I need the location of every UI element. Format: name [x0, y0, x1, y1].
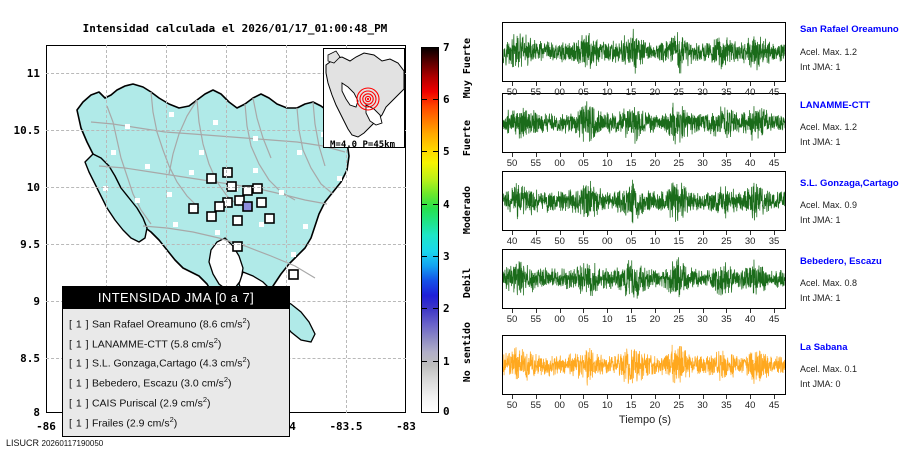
- time-axis-3: 404550550005101520253035: [502, 231, 786, 251]
- legend-bracket: [ 1 ]: [69, 358, 89, 370]
- list-item: [ 1 ] S.L. Gonzaga,Cartago (4.3 cm/s2): [69, 352, 283, 372]
- seismogram-panel-2[interactable]: [502, 93, 786, 153]
- axis-tick: [607, 309, 608, 313]
- axis-tick-label: 30: [738, 236, 762, 247]
- axis-tick: [679, 395, 680, 399]
- legend-station: San Rafael Oreamuno: [92, 319, 196, 331]
- axis-tick-label: 00: [548, 400, 572, 411]
- time-axis-1: 505500051015202530354045: [502, 82, 786, 102]
- axis-tick-label: 50: [500, 314, 524, 325]
- axis-tick: [607, 231, 608, 235]
- axis-tick: [679, 309, 680, 313]
- magnitude-depth-label: M=4.0 P=45km: [330, 140, 395, 150]
- axis-tick: [583, 82, 584, 86]
- axis-tick: [560, 153, 561, 157]
- x-axis-label: Tiempo (s): [560, 414, 730, 426]
- colorbar-tick-5: 5: [443, 145, 450, 158]
- axis-tick: [750, 231, 751, 235]
- axis-tick-label: 20: [691, 236, 715, 247]
- axis-tick-label: 00: [548, 158, 572, 169]
- unit-exponent: 2: [170, 415, 174, 424]
- axis-tick-label: 55: [524, 314, 548, 325]
- axis-tick-label: 20: [643, 87, 667, 98]
- unit-exponent: 2: [243, 355, 247, 364]
- lat-label-8: 8: [0, 406, 40, 419]
- unit-exponent: 2: [214, 336, 218, 345]
- colorbar-category-debil: Debil: [462, 268, 473, 298]
- station-accel-3: Acel. Max. 0.9: [800, 200, 857, 210]
- axis-tick: [536, 153, 537, 157]
- lat-label-8-5: 8.5: [0, 352, 40, 365]
- colorbar-tick-3: 3: [443, 250, 450, 263]
- axis-tick: [655, 309, 656, 313]
- waveform-trace: [503, 94, 785, 152]
- seismogram-panel-3[interactable]: [502, 171, 786, 231]
- axis-tick-label: 05: [571, 400, 595, 411]
- station-name-1: San Rafael Oreamuno: [800, 24, 899, 35]
- waveform-trace: [503, 336, 785, 394]
- axis-tick: [536, 309, 537, 313]
- legend-bracket: [ 1 ]: [69, 338, 89, 350]
- axis-tick-label: 25: [667, 158, 691, 169]
- waveform-trace: [503, 250, 785, 308]
- axis-tick-label: 10: [595, 87, 619, 98]
- axis-tick: [679, 82, 680, 86]
- axis-tick: [703, 395, 704, 399]
- axis-tick-label: 35: [714, 400, 738, 411]
- axis-tick: [560, 395, 561, 399]
- axis-tick: [750, 82, 751, 86]
- colorbar-tick-4: 4: [443, 198, 450, 211]
- axis-tick-label: 25: [714, 236, 738, 247]
- axis-tick: [512, 395, 513, 399]
- axis-tick-label: 00: [595, 236, 619, 247]
- legend-accel: 2.9: [130, 417, 145, 429]
- legend-station: LANAMME-CTT: [92, 338, 168, 350]
- legend-accel: 5.8: [174, 338, 189, 350]
- lat-label-9-5: 9.5: [0, 238, 40, 251]
- axis-tick: [607, 82, 608, 86]
- axis-tick-label: 10: [595, 314, 619, 325]
- station-name-3: S.L. Gonzaga,Cartago: [800, 178, 899, 189]
- colorbar-category-no-sentido: No sentido: [462, 322, 473, 382]
- legend-station: Bebedero, Escazu: [92, 378, 178, 390]
- inset-map-svg: [324, 49, 405, 148]
- station-intensity-3: Int JMA: 1: [800, 215, 841, 225]
- axis-tick: [703, 153, 704, 157]
- legend-unit: cm/s: [220, 358, 242, 370]
- seismogram-panel-4[interactable]: [502, 249, 786, 309]
- legend-header: INTENSIDAD JMA [0 a 7]: [63, 287, 289, 309]
- axis-tick-label: 55: [571, 236, 595, 247]
- axis-tick: [536, 82, 537, 86]
- axis-tick: [583, 231, 584, 235]
- legend-accel: 8.6: [203, 319, 218, 331]
- axis-tick-label: 50: [500, 158, 524, 169]
- seismogram-panel-5[interactable]: [502, 335, 786, 395]
- axis-tick-label: 00: [548, 87, 572, 98]
- axis-tick-label: 05: [571, 158, 595, 169]
- axis-tick: [679, 231, 680, 235]
- axis-tick: [631, 395, 632, 399]
- page-title: Intensidad calculada el 2026/01/17_01:00…: [60, 22, 410, 35]
- lat-label-10-5: 10.5: [0, 124, 40, 137]
- axis-tick: [512, 309, 513, 313]
- colorbar-category-fuerte: Fuerte: [462, 120, 473, 156]
- axis-tick-label: 20: [643, 314, 667, 325]
- station-name-5: La Sabana: [800, 342, 848, 353]
- station-intensity-4: Int JMA: 1: [800, 293, 841, 303]
- axis-tick: [583, 153, 584, 157]
- list-item: [ 1 ] Frailes (2.9 cm/s2): [69, 412, 283, 432]
- axis-tick-label: 30: [691, 158, 715, 169]
- legend-accel: 3.0: [184, 378, 199, 390]
- axis-tick-label: 20: [643, 400, 667, 411]
- station-accel-2: Acel. Max. 1.2: [800, 122, 857, 132]
- axis-tick-label: 45: [762, 158, 786, 169]
- axis-tick-label: 45: [762, 400, 786, 411]
- legend-unit: cm/s: [220, 319, 242, 331]
- axis-tick-label: 45: [762, 87, 786, 98]
- intensity-colorbar: [421, 47, 439, 413]
- axis-tick-label: 50: [500, 87, 524, 98]
- time-axis-2: 505500051015202530354045: [502, 153, 786, 173]
- axis-tick: [679, 153, 680, 157]
- footer-credit: LISUCR 20260117190050: [6, 438, 103, 448]
- colorbar-category-muy-fuerte: Muy Fuerte: [462, 38, 473, 98]
- axis-tick: [631, 231, 632, 235]
- time-axis-4: 505500051015202530354045: [502, 309, 786, 329]
- axis-tick: [631, 309, 632, 313]
- axis-tick: [655, 395, 656, 399]
- axis-tick-label: 15: [667, 236, 691, 247]
- station-accel-5: Acel. Max. 0.1: [800, 364, 857, 374]
- axis-tick: [631, 82, 632, 86]
- axis-tick-label: 10: [595, 158, 619, 169]
- list-item: [ 1 ] San Rafael Oreamuno (8.6 cm/s2): [69, 313, 283, 333]
- list-item: [ 1 ] LANAMME-CTT (5.8 cm/s2): [69, 333, 283, 353]
- axis-tick: [512, 82, 513, 86]
- waveform-trace: [503, 23, 785, 81]
- axis-tick-label: 15: [619, 400, 643, 411]
- legend-rows: [ 1 ] San Rafael Oreamuno (8.6 cm/s2) [ …: [63, 309, 289, 436]
- axis-tick: [583, 309, 584, 313]
- axis-tick: [750, 309, 751, 313]
- axis-tick: [774, 395, 775, 399]
- axis-tick: [536, 395, 537, 399]
- station-intensity-5: Int JMA: 0: [800, 379, 841, 389]
- colorbar-tick-2: 2: [443, 302, 450, 315]
- colorbar-category-moderado: Moderado: [462, 186, 473, 234]
- seismogram-panel-1[interactable]: [502, 22, 786, 82]
- footer-agency: LISUCR: [6, 438, 39, 448]
- axis-tick: [750, 395, 751, 399]
- axis-tick: [774, 231, 775, 235]
- station-intensity-1: Int JMA: 1: [800, 62, 841, 72]
- station-accel-4: Acel. Max. 0.8: [800, 278, 857, 288]
- axis-tick: [607, 395, 608, 399]
- axis-tick: [560, 231, 561, 235]
- axis-tick-label: 30: [691, 314, 715, 325]
- axis-tick-label: 20: [643, 158, 667, 169]
- legend-station: S.L. Gonzaga,Cartago: [92, 358, 196, 370]
- legend-bracket: [ 1 ]: [69, 319, 89, 331]
- station-accel-1: Acel. Max. 1.2: [800, 47, 857, 57]
- axis-tick-label: 35: [762, 236, 786, 247]
- axis-tick-label: 10: [643, 236, 667, 247]
- axis-tick-label: 50: [548, 236, 572, 247]
- axis-tick: [512, 231, 513, 235]
- axis-tick: [726, 395, 727, 399]
- lat-label-10: 10: [0, 181, 40, 194]
- axis-tick: [774, 309, 775, 313]
- axis-tick-label: 05: [571, 314, 595, 325]
- axis-tick: [703, 309, 704, 313]
- axis-tick-label: 45: [524, 236, 548, 247]
- list-item: [ 1 ] Bebedero, Escazu (3.0 cm/s2): [69, 372, 283, 392]
- axis-tick: [560, 82, 561, 86]
- legend-station: CAIS Puriscal: [92, 397, 157, 409]
- axis-tick-label: 05: [571, 87, 595, 98]
- axis-tick: [607, 153, 608, 157]
- axis-tick: [726, 82, 727, 86]
- intensity-legend[interactable]: INTENSIDAD JMA [0 a 7] [ 1 ] San Rafael …: [62, 286, 290, 437]
- legend-accel: 4.3: [203, 358, 218, 370]
- legend-accel: 2.9: [163, 397, 178, 409]
- axis-tick: [726, 309, 727, 313]
- axis-tick-label: 40: [738, 87, 762, 98]
- axis-tick-label: 15: [619, 87, 643, 98]
- axis-tick: [750, 153, 751, 157]
- axis-tick-label: 55: [524, 400, 548, 411]
- axis-tick-label: 30: [691, 400, 715, 411]
- axis-tick-label: 40: [738, 314, 762, 325]
- axis-tick: [703, 231, 704, 235]
- axis-tick: [512, 153, 513, 157]
- axis-tick: [774, 82, 775, 86]
- legend-unit: cm/s: [147, 417, 169, 429]
- colorbar-tick-0: 0: [443, 405, 450, 418]
- axis-tick: [583, 395, 584, 399]
- lon-label--83: -83: [376, 420, 436, 433]
- axis-tick-label: 50: [500, 400, 524, 411]
- footer-code: 20260117190050: [42, 439, 104, 448]
- axis-tick-label: 15: [619, 158, 643, 169]
- lat-label-11: 11: [0, 67, 40, 80]
- colorbar-tick-1: 1: [443, 355, 450, 368]
- station-name-4: Bebedero, Escazu: [800, 256, 882, 267]
- axis-tick-label: 30: [691, 87, 715, 98]
- time-axis-5: 505500051015202530354045: [502, 395, 786, 415]
- unit-exponent: 2: [243, 316, 247, 325]
- axis-tick: [655, 231, 656, 235]
- unit-exponent: 2: [224, 375, 228, 384]
- axis-tick-label: 45: [762, 314, 786, 325]
- axis-tick-label: 35: [714, 87, 738, 98]
- waveform-trace: [503, 172, 785, 230]
- location-inset-map[interactable]: [323, 48, 405, 148]
- axis-tick-label: 40: [738, 158, 762, 169]
- axis-tick-label: 00: [548, 314, 572, 325]
- axis-tick-label: 40: [738, 400, 762, 411]
- legend-unit: cm/s: [202, 378, 224, 390]
- axis-tick: [726, 153, 727, 157]
- axis-tick: [774, 153, 775, 157]
- axis-tick: [560, 309, 561, 313]
- lon-label--83-5: -83.5: [316, 420, 376, 433]
- legend-bracket: [ 1 ]: [69, 417, 89, 429]
- station-intensity-2: Int JMA: 1: [800, 137, 841, 147]
- axis-tick: [703, 82, 704, 86]
- axis-tick-label: 10: [595, 400, 619, 411]
- legend-unit: cm/s: [192, 338, 214, 350]
- axis-tick-label: 05: [619, 236, 643, 247]
- axis-tick: [655, 82, 656, 86]
- axis-tick-label: 35: [714, 158, 738, 169]
- axis-tick: [655, 153, 656, 157]
- axis-tick-label: 55: [524, 158, 548, 169]
- axis-tick: [631, 153, 632, 157]
- axis-tick-label: 25: [667, 314, 691, 325]
- axis-tick: [536, 231, 537, 235]
- axis-tick-label: 40: [500, 236, 524, 247]
- station-name-2: LANAMME-CTT: [800, 100, 870, 111]
- axis-tick-label: 35: [714, 314, 738, 325]
- colorbar-tick-6: 6: [443, 93, 450, 106]
- list-item: [ 1 ] CAIS Puriscal (2.9 cm/s2): [69, 392, 283, 412]
- legend-unit: cm/s: [181, 397, 203, 409]
- legend-station: Frailes: [92, 417, 124, 429]
- legend-bracket: [ 1 ]: [69, 378, 89, 390]
- colorbar-tick-7: 7: [443, 41, 450, 54]
- axis-tick: [726, 231, 727, 235]
- legend-bracket: [ 1 ]: [69, 397, 89, 409]
- axis-tick-label: 25: [667, 87, 691, 98]
- axis-tick-label: 55: [524, 87, 548, 98]
- lat-label-9: 9: [0, 295, 40, 308]
- axis-tick-label: 25: [667, 400, 691, 411]
- unit-exponent: 2: [203, 395, 207, 404]
- axis-tick-label: 15: [619, 314, 643, 325]
